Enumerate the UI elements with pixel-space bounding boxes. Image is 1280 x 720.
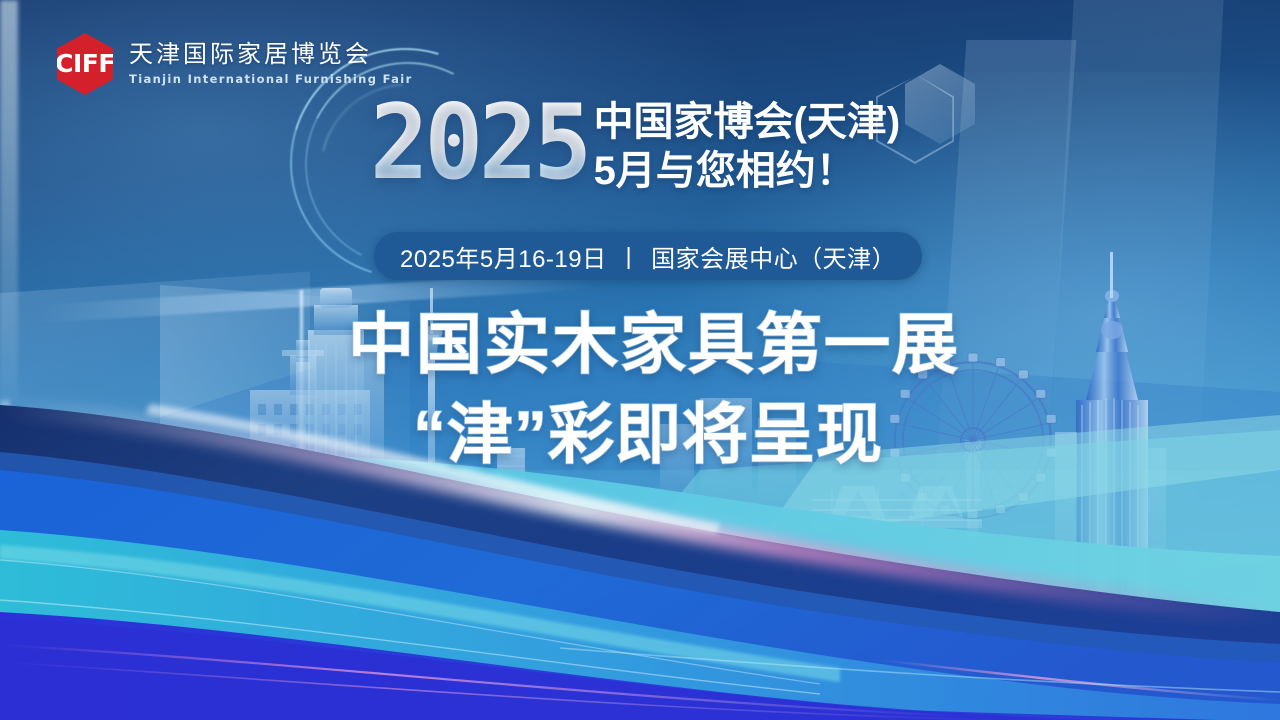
badge-separator: 丨 xyxy=(607,239,652,274)
slogan-block: 中国实木家具第一展 “津”彩即将呈现 xyxy=(348,300,948,480)
year-2025: 2025 xyxy=(370,94,588,192)
headline-block: 2025 中国家博会(天津) 5月与您相约！ xyxy=(370,94,900,196)
headline-line-1: 中国家博会(天津) xyxy=(594,98,901,147)
event-date: 2025年5月16-19日 xyxy=(400,239,607,274)
ciff-logo-icon: CIFF xyxy=(57,33,113,95)
ciff-tianjin-promo-banner: CIFF 天津国际家居博览会 Tianjin International Fur… xyxy=(0,0,1280,720)
headline-line-2: 5月与您相约！ xyxy=(594,147,901,196)
headline-text-column: 中国家博会(天津) 5月与您相约！ xyxy=(594,94,901,196)
brand-names: 天津国际家居博览会 Tianjin International Furnishi… xyxy=(129,42,413,86)
slogan-line-1: 中国实木家具第一展 xyxy=(348,300,948,390)
brand-header: CIFF 天津国际家居博览会 Tianjin International Fur… xyxy=(57,33,413,95)
date-venue-badge: 2025年5月16-19日 丨 国家会展中心（天津） xyxy=(374,232,922,280)
event-venue: 国家会展中心（天津） xyxy=(651,239,896,274)
slogan-line-2: “津”彩即将呈现 xyxy=(348,390,948,480)
ciff-logo-text: CIFF xyxy=(55,51,115,76)
brand-name-cn: 天津国际家居博览会 xyxy=(129,42,413,68)
